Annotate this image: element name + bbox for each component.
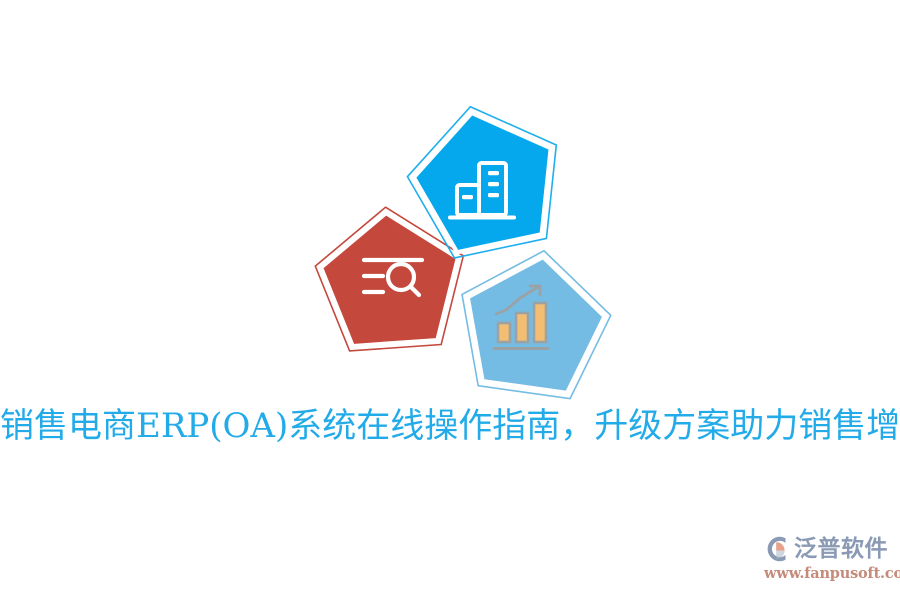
building-window xyxy=(488,182,499,186)
poster-canvas: 销售电商ERP(OA)系统在线操作指南，升级方案助力销售增长？ 泛普软件 www… xyxy=(0,0,900,600)
chart-bar-1 xyxy=(498,323,510,342)
watermark-brand-row: 泛普软件 xyxy=(762,532,888,566)
watermark-url-text: www.fanpusoft.com xyxy=(764,565,900,582)
building-window xyxy=(488,171,499,175)
building-window xyxy=(462,195,473,199)
pentagon-cluster-graphic xyxy=(0,0,900,420)
chart-bar-2 xyxy=(516,313,528,342)
building-window xyxy=(488,193,499,197)
watermark: 泛普软件 www.fanpusoft.com xyxy=(762,532,894,588)
page-title: 销售电商ERP(OA)系统在线操作指南，升级方案助力销售增长？ xyxy=(0,402,900,450)
chart-bar-3 xyxy=(534,303,546,342)
watermark-brand-text: 泛普软件 xyxy=(794,534,888,564)
fanpu-swoosh-logo-icon xyxy=(762,534,792,564)
logo-inner-leaf xyxy=(776,542,784,550)
